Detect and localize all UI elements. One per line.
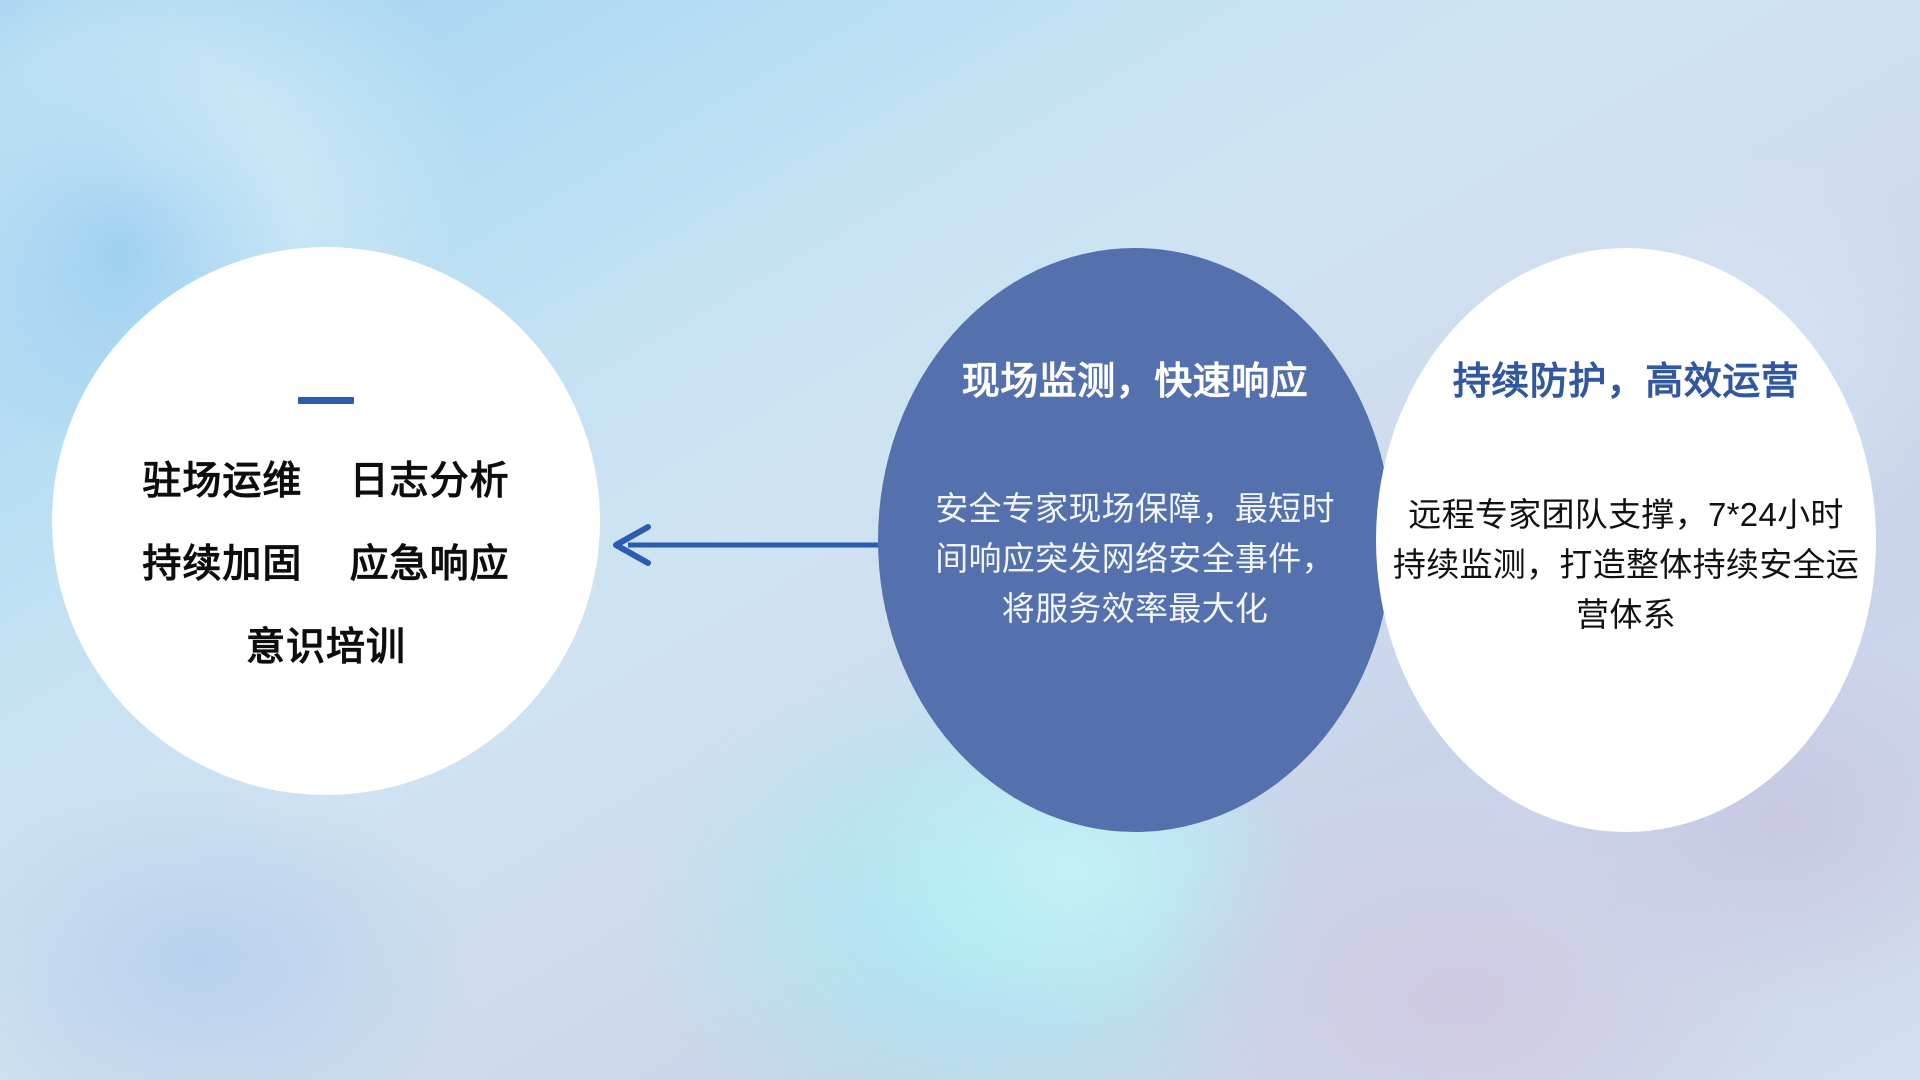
left-capability-circle[interactable]: 驻场运维 日志分析 持续加固 应急响应 意识培训 <box>52 247 600 795</box>
middle-circle-title: 现场监测，快速响应 <box>902 360 1368 406</box>
accent-divider <box>298 397 354 404</box>
right-circle-content: 持续防护，高效运营 远程专家团队支撑，7*24小时持续监测，打造整体持续安全运营… <box>1376 360 1876 640</box>
left-keyword-line-2: 持续加固 应急响应 <box>52 545 600 584</box>
slide-canvas: 驻场运维 日志分析 持续加固 应急响应 意识培训 现场监测，快速响应 安全专家现… <box>0 0 1920 1080</box>
right-circle-title: 持续防护，高效运营 <box>1386 360 1866 406</box>
left-keyword-line-1: 驻场运维 日志分析 <box>52 462 600 501</box>
middle-onsite-circle[interactable]: 现场监测，快速响应 安全专家现场保障，最短时间响应突发网络安全事件，将服务效率最… <box>878 248 1392 832</box>
right-remote-circle[interactable]: 持续防护，高效运营 远程专家团队支撑，7*24小时持续监测，打造整体持续安全运营… <box>1376 248 1876 832</box>
middle-circle-body: 安全专家现场保障，最短时间响应突发网络安全事件，将服务效率最大化 <box>902 484 1368 634</box>
right-circle-body: 远程专家团队支撑，7*24小时持续监测，打造整体持续安全运营体系 <box>1386 490 1866 640</box>
left-keyword-line-3: 意识培训 <box>52 628 600 667</box>
arrow-left-icon <box>600 510 900 580</box>
left-circle-content: 驻场运维 日志分析 持续加固 应急响应 意识培训 <box>52 397 600 667</box>
middle-circle-content: 现场监测，快速响应 安全专家现场保障，最短时间响应突发网络安全事件，将服务效率最… <box>878 360 1392 634</box>
